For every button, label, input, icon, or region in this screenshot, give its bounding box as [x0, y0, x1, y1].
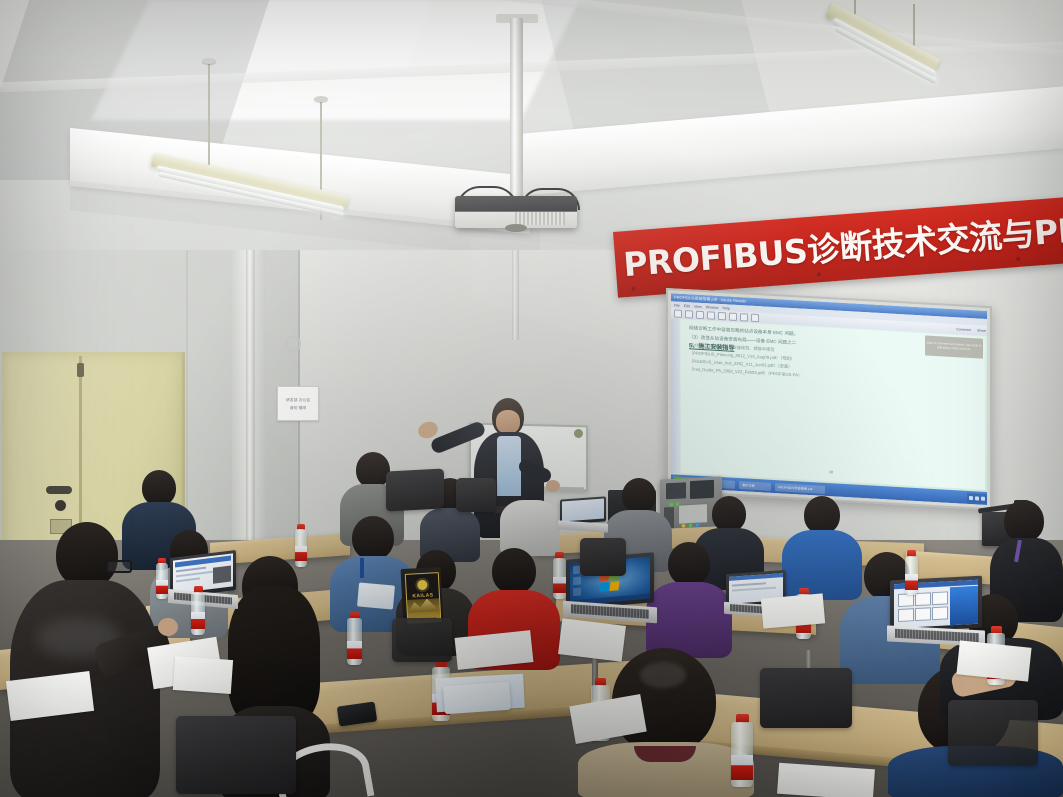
open-file-icon[interactable]: [674, 309, 682, 317]
select-tool-icon[interactable]: [740, 313, 748, 321]
light-canopy: [202, 58, 216, 64]
chair[interactable]: [760, 668, 852, 728]
sun-icon: [417, 580, 428, 591]
wall-sign: 研发部 办公区 请勿 喧哗: [277, 386, 319, 421]
wall-sign-line2: 请勿 喧哗: [290, 405, 307, 411]
projector-lens: [505, 224, 527, 232]
water-bottle[interactable]: [730, 714, 754, 788]
pdf-comment-text: Click to comment and share. Use tools to…: [925, 342, 983, 353]
projection-surface: PROFIBUS安装指南.pdf - Adobe Reader File Edi…: [671, 293, 987, 505]
hand: [158, 618, 178, 636]
chair[interactable]: [948, 700, 1038, 766]
taskbar-label: PROFIBUS安装指南.pdf: [778, 484, 812, 491]
door-hinge: [77, 363, 84, 377]
lanyard: [360, 558, 364, 578]
door-handle-icon[interactable]: [46, 486, 72, 494]
water-bottle[interactable]: [346, 612, 363, 666]
print-icon[interactable]: [685, 310, 693, 318]
chair[interactable]: [392, 618, 452, 662]
comment-button[interactable]: Comment: [956, 327, 971, 332]
handout-paper[interactable]: [761, 593, 825, 628]
highlight-icon[interactable]: [751, 314, 759, 322]
laptop[interactable]: [560, 498, 606, 532]
tray-icon[interactable]: [969, 495, 973, 499]
menu-item-help[interactable]: Help: [723, 306, 730, 310]
pdf-comment-panel[interactable]: Click to comment and share. Use tools to…: [925, 335, 983, 358]
handout-paper[interactable]: [173, 656, 233, 694]
chair[interactable]: [580, 538, 626, 576]
taskbar-item-pdf[interactable]: PROFIBUS安装指南.pdf: [775, 483, 825, 494]
attendee: [646, 542, 732, 650]
chair[interactable]: [456, 478, 496, 512]
backpack-logo-badge: KAILAS OUTDOOR GEAR: [405, 572, 442, 624]
light-canopy: [314, 96, 328, 102]
taskbar-item-slides[interactable]: 演示文稿: [739, 481, 771, 491]
projector-vent: [515, 212, 565, 225]
tissue-box[interactable]: [357, 582, 395, 609]
chair[interactable]: [386, 468, 444, 511]
page-fit-icon[interactable]: [729, 313, 737, 321]
laptop-screen: [562, 499, 604, 522]
chair[interactable]: [176, 716, 296, 794]
water-bottle[interactable]: [552, 552, 567, 600]
water-bottle[interactable]: [294, 524, 308, 568]
menu-item-view[interactable]: View: [694, 304, 702, 308]
projector-pole: [510, 18, 523, 198]
attendee: [500, 470, 560, 552]
menu-item-window[interactable]: Window: [706, 305, 719, 310]
collar: [634, 746, 696, 762]
glasses-icon: [106, 560, 132, 573]
handout-paper[interactable]: [777, 763, 875, 797]
handout-paper[interactable]: [558, 618, 626, 662]
tissue-box[interactable]: [443, 682, 511, 715]
water-bottle[interactable]: [155, 558, 169, 600]
vertical-pipe: [246, 250, 255, 550]
zoom-out-icon[interactable]: [707, 311, 715, 319]
long-hair: [228, 586, 320, 726]
ceiling-vent: [285, 336, 301, 352]
save-icon[interactable]: [696, 311, 704, 319]
attendee: [10, 522, 160, 797]
water-bottle[interactable]: [190, 586, 206, 636]
tray-icon[interactable]: [981, 496, 985, 500]
taskbar-label: 演示文稿: [742, 482, 755, 488]
tray-icon[interactable]: [975, 496, 979, 500]
wall-sign-line1: 研发部 办公区: [286, 397, 310, 403]
classroom-photo: 研发部 办公区 请勿 喧哗 PROFIBUS诊断技术交流与PBSTUDIO+应用…: [0, 0, 1063, 797]
share-button[interactable]: Share: [977, 328, 986, 333]
system-tray[interactable]: [967, 493, 987, 503]
whiteboard-knob: [574, 429, 583, 438]
menu-item-edit[interactable]: Edit: [684, 303, 690, 307]
pdf-page-number: 28: [829, 470, 833, 474]
zoom-in-icon[interactable]: [718, 312, 726, 320]
brand-name: KAILAS: [407, 592, 439, 600]
pdf-sidebar[interactable]: [671, 318, 680, 474]
menu-item-file[interactable]: File: [674, 303, 680, 307]
face: [496, 410, 520, 434]
water-bottle[interactable]: [904, 550, 919, 596]
door-lock-icon[interactable]: [55, 500, 66, 511]
